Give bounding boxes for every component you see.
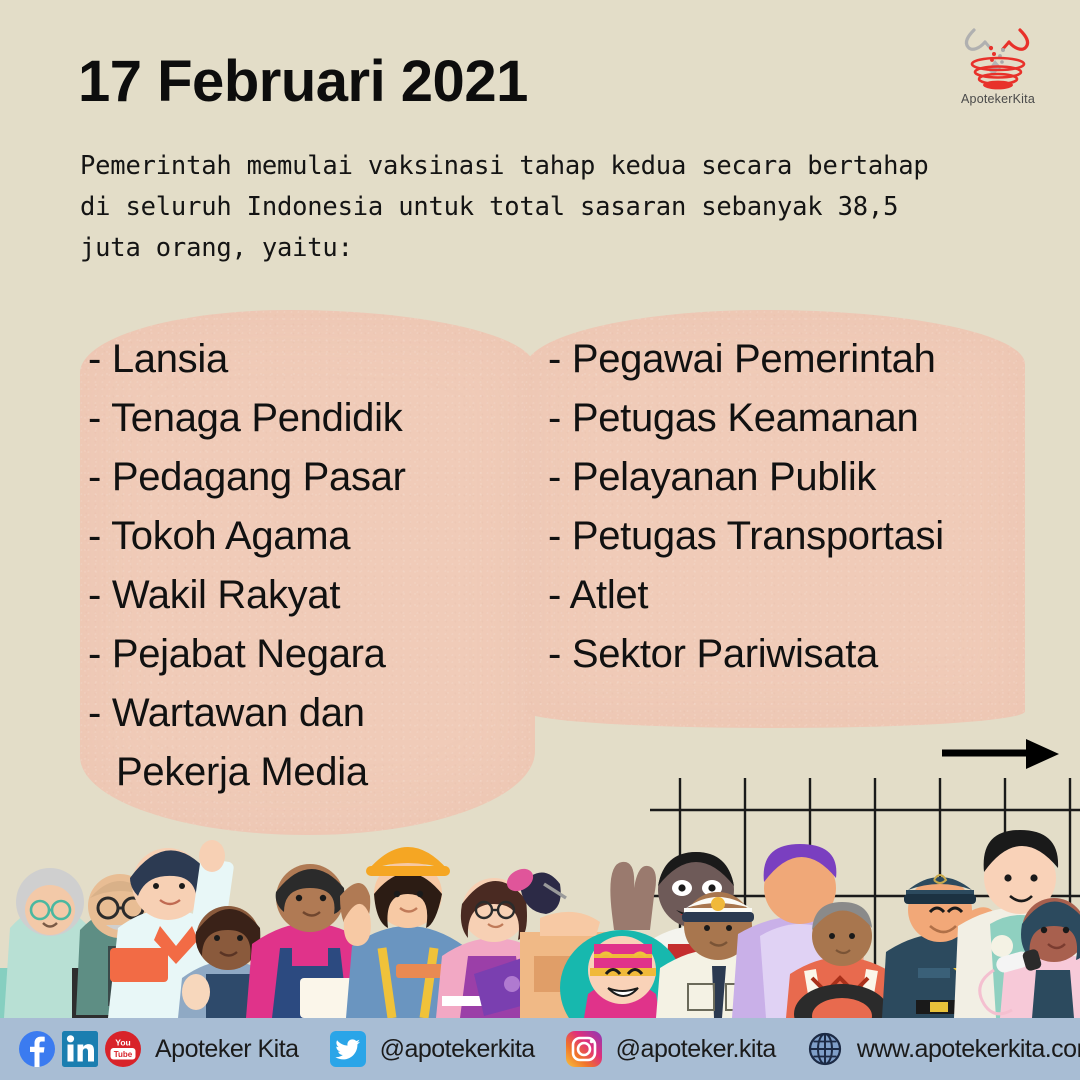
youtube-icon[interactable]: You Tube bbox=[104, 1030, 142, 1068]
list-item-text: - Tenaga Pendidik bbox=[88, 396, 402, 440]
apotekerkita-logo: ApotekerKita bbox=[942, 14, 1054, 106]
list-item-text-continuation: Pekerja Media bbox=[88, 743, 538, 802]
linkedin-icon[interactable] bbox=[61, 1030, 99, 1068]
list-item: - Pejabat Negara bbox=[88, 625, 538, 684]
list-item: - Sektor Pariwisata bbox=[548, 625, 1028, 684]
facebook-icon[interactable] bbox=[18, 1030, 56, 1068]
list-item: - Tenaga Pendidik bbox=[88, 389, 538, 448]
list-item-text: - Tokoh Agama bbox=[88, 514, 350, 558]
instagram-icon[interactable] bbox=[565, 1030, 603, 1068]
list-item-text: - Pegawai Pemerintah bbox=[548, 337, 936, 381]
list-item: - Pelayanan Publik bbox=[548, 448, 1028, 507]
list-item: - Petugas Transportasi bbox=[548, 507, 1028, 566]
footer-group-apotekerkita: You Tube Apoteker Kita bbox=[18, 1030, 299, 1068]
footer-icons bbox=[806, 1030, 844, 1068]
list-item-text: - Petugas Transportasi bbox=[548, 514, 944, 558]
list-item-text: - Pejabat Negara bbox=[88, 632, 386, 676]
list-item-text: - Wakil Rakyat bbox=[88, 573, 340, 617]
svg-text:You: You bbox=[115, 1038, 130, 1048]
list-item-text: - Atlet bbox=[548, 573, 648, 617]
list-item: - Petugas Keamanan bbox=[548, 389, 1028, 448]
twitter-icon[interactable] bbox=[329, 1030, 367, 1068]
footer-handle: @apoteker.kita bbox=[616, 1035, 776, 1064]
footer-group-instagram: @apoteker.kita bbox=[565, 1030, 776, 1068]
list-item: - Pegawai Pemerintah bbox=[548, 330, 1028, 389]
svg-text:Tube: Tube bbox=[114, 1050, 133, 1059]
social-footer: You Tube Apoteker Kita @apotekerkita bbox=[0, 1018, 1080, 1080]
intro-paragraph: Pemerintah memulai vaksinasi tahap kedua… bbox=[80, 146, 930, 269]
footer-handle: @apotekerkita bbox=[380, 1035, 535, 1064]
infographic-canvas: ApotekerKita 17 Februari 2021 Pemerintah… bbox=[0, 0, 1080, 1080]
globe-icon[interactable] bbox=[806, 1030, 844, 1068]
footer-url: www.apotekerkita.com bbox=[857, 1035, 1080, 1064]
footer-icons bbox=[565, 1030, 603, 1068]
list-item: - Atlet bbox=[548, 566, 1028, 625]
list-item-text: - Lansia bbox=[88, 337, 228, 381]
footer-group-twitter: @apotekerkita bbox=[329, 1030, 535, 1068]
footer-icons: You Tube bbox=[18, 1030, 142, 1068]
list-item-text: - Sektor Pariwisata bbox=[548, 632, 878, 676]
list-item-text: - Pedagang Pasar bbox=[88, 455, 406, 499]
page-title: 17 Februari 2021 bbox=[78, 48, 528, 115]
list-item-text: - Wartawan dan bbox=[88, 691, 365, 735]
list-item-text: - Pelayanan Publik bbox=[548, 455, 876, 499]
list-item-text: - Petugas Keamanan bbox=[548, 396, 918, 440]
list-item: - Wakil Rakyat bbox=[88, 566, 538, 625]
list-item: - Wartawan dan Pekerja Media bbox=[88, 684, 538, 802]
logo-wordmark: ApotekerKita bbox=[942, 92, 1054, 106]
footer-handle: Apoteker Kita bbox=[155, 1035, 299, 1064]
list-item: - Lansia bbox=[88, 330, 538, 389]
list-item: - Tokoh Agama bbox=[88, 507, 538, 566]
target-group-list-left: - Lansia - Tenaga Pendidik - Pedagang Pa… bbox=[88, 330, 538, 802]
footer-icons bbox=[329, 1030, 367, 1068]
crowd-illustration bbox=[0, 778, 1080, 1018]
list-item: - Pedagang Pasar bbox=[88, 448, 538, 507]
next-arrow-icon[interactable] bbox=[940, 738, 1060, 772]
footer-group-website: www.apotekerkita.com bbox=[806, 1030, 1080, 1068]
target-group-list-right: - Pegawai Pemerintah - Petugas Keamanan … bbox=[548, 330, 1028, 684]
